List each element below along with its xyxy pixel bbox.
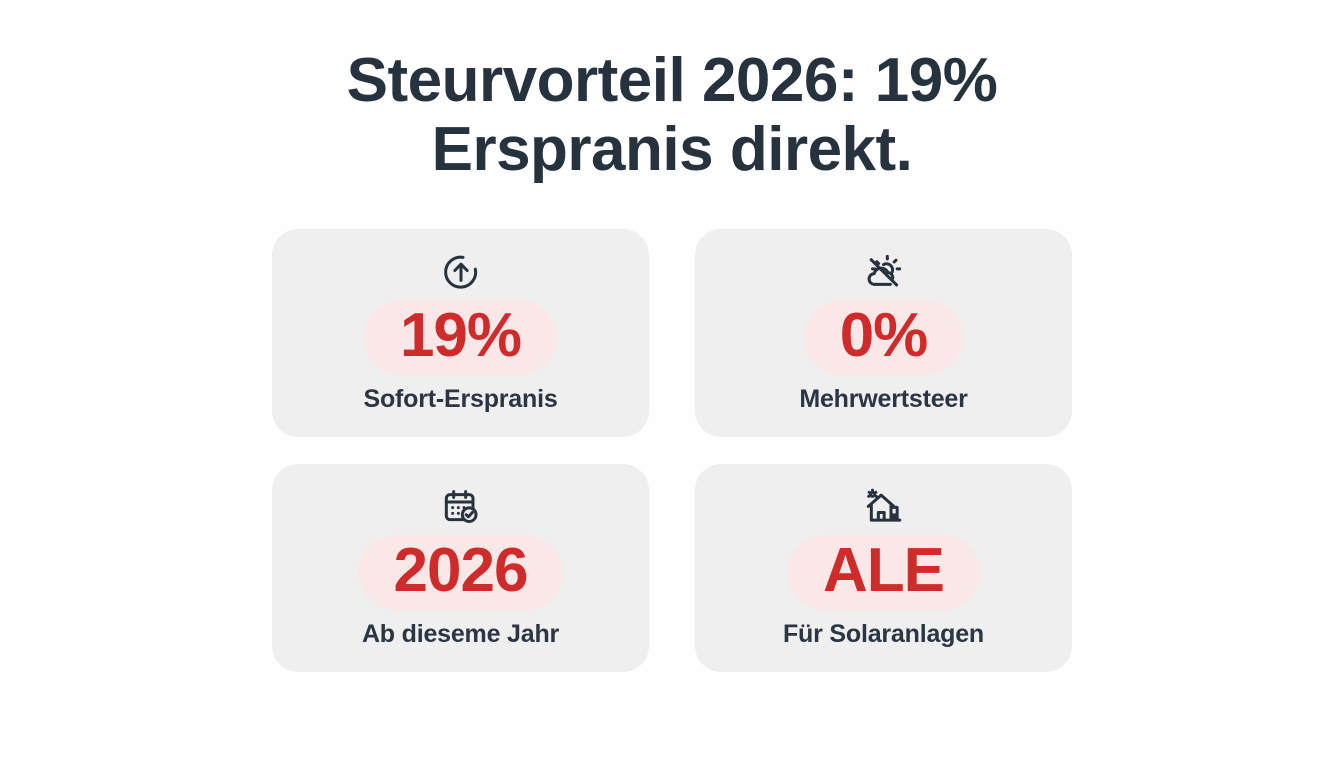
cloud-sun-off-icon bbox=[862, 250, 906, 294]
stat-value: 19% bbox=[400, 304, 521, 367]
stat-card-grid: 19% Sofort-Erspranis 0% bbox=[272, 229, 1072, 672]
stat-label: Mehrwertsteer bbox=[799, 385, 967, 414]
circular-arrow-up-icon bbox=[439, 250, 483, 294]
stat-card-mehrwertsteer: 0% Mehrwertsteer bbox=[695, 229, 1072, 437]
stat-label: Ab dieseme Jahr bbox=[362, 620, 559, 649]
stat-value-pill: 2026 bbox=[358, 535, 564, 610]
stat-label: Für Solaranlagen bbox=[783, 620, 984, 649]
solar-house-icon bbox=[862, 485, 906, 529]
infographic-poster: Steurvorteil 2026: 19% Erspranis direkt.… bbox=[0, 0, 1344, 768]
stat-value: 2026 bbox=[394, 539, 528, 602]
calendar-check-icon bbox=[439, 485, 483, 529]
stat-value: 0% bbox=[840, 304, 928, 367]
stat-card-ab-dieseme-jahr: 2026 Ab dieseme Jahr bbox=[272, 464, 649, 672]
stat-card-fuer-solaranlagen: ALE Für Solaranlagen bbox=[695, 464, 1072, 672]
page-title-line-1: Steurvorteil 2026: 19% bbox=[322, 46, 1022, 115]
stat-value-pill: ALE bbox=[787, 535, 980, 610]
stat-card-sofort-erspranis: 19% Sofort-Erspranis bbox=[272, 229, 649, 437]
page-title-line-2: Erspranis direkt. bbox=[322, 115, 1022, 184]
stat-value-pill: 19% bbox=[364, 300, 557, 375]
stat-label: Sofort-Erspranis bbox=[363, 385, 557, 414]
stat-value-pill: 0% bbox=[804, 300, 964, 375]
stat-value: ALE bbox=[823, 539, 944, 602]
page-title: Steurvorteil 2026: 19% Erspranis direkt. bbox=[322, 0, 1022, 185]
